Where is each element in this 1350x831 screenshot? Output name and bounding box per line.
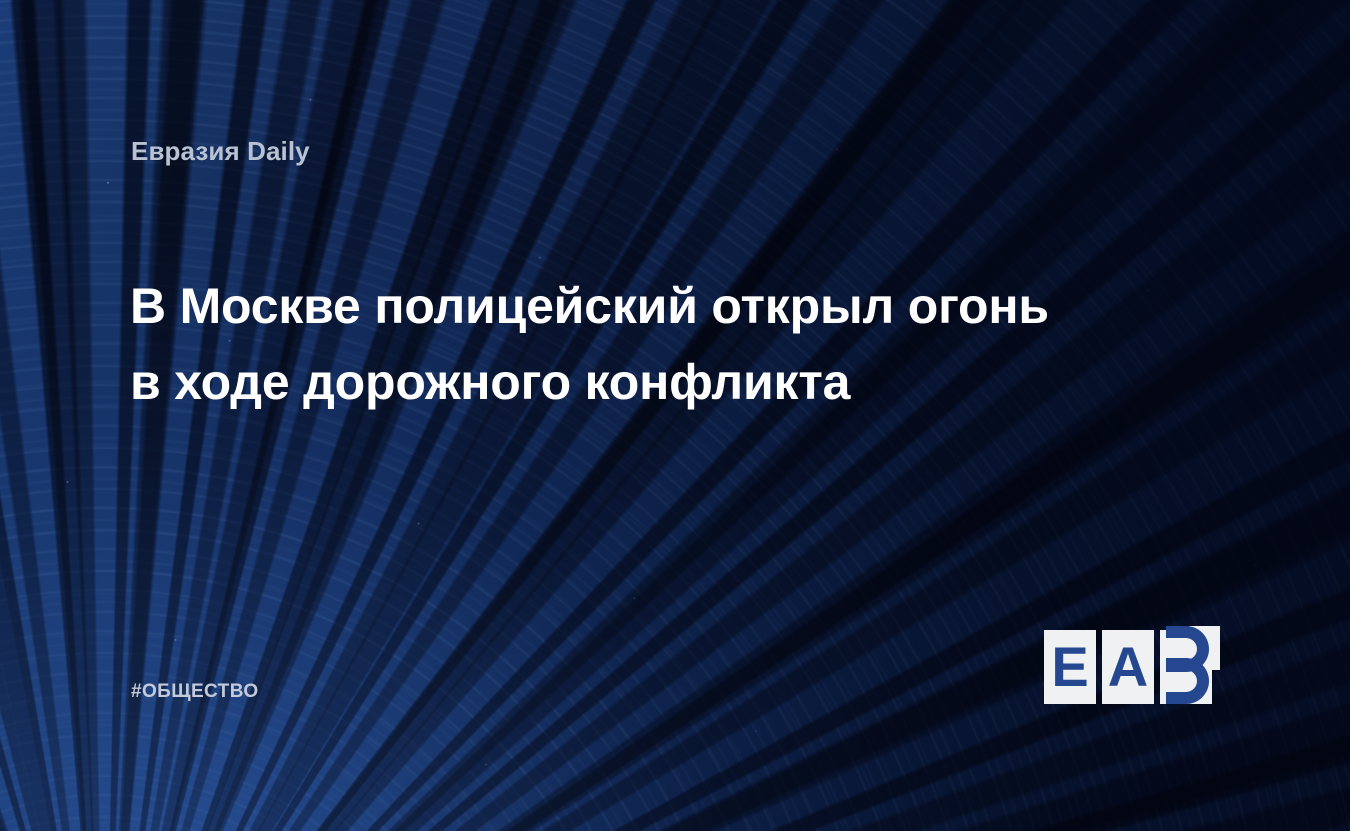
eadaily-logo[interactable]: E A [1044,626,1220,704]
headline-line-1: В Москве полицейский открыл огонь [130,268,1220,344]
category-tag[interactable]: #ОБЩЕСТВО [131,681,259,703]
news-card-image: Евразия Daily В Москве полицейский откры… [0,0,1350,831]
site-name: Евразия Daily [131,136,310,167]
logo-letter-a: A [1102,630,1154,704]
logo-letter-e: E [1044,630,1096,704]
logo-letter-d [1160,618,1220,712]
card-content: Евразия Daily В Москве полицейский откры… [0,0,1350,831]
headline-line-2: в ходе дорожного конфликта [130,344,1220,420]
page-title: В Москве полицейский открыл огонь в ходе… [130,268,1220,420]
